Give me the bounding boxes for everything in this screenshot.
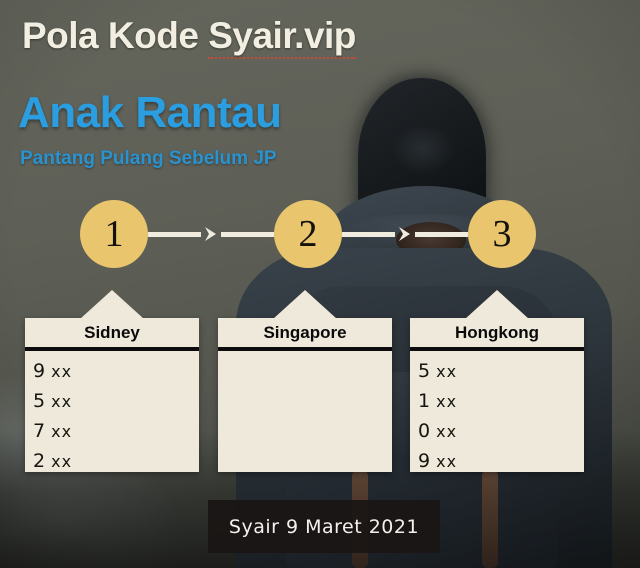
step-connector-2	[342, 231, 468, 237]
prediction-digit: 9	[33, 360, 46, 382]
prediction-row: 0xx	[418, 417, 584, 447]
step-circle-2[interactable]: 2	[274, 200, 342, 268]
step-circle-1[interactable]: 1	[80, 200, 148, 268]
chevron-right-icon	[203, 225, 219, 243]
caption-bar: Syair 9 Maret 2021	[208, 500, 440, 553]
poster-canvas: Pola Kode Syair.vip Anak Rantau Pantang …	[0, 0, 640, 568]
chevron-right-icon	[397, 225, 413, 243]
prediction-row: 9xx	[33, 357, 199, 387]
card-pointer-icon	[80, 290, 144, 319]
prediction-mask: xx	[436, 452, 457, 471]
prediction-digit: 1	[418, 390, 431, 412]
prediction-row: 9xx	[418, 447, 584, 477]
card-body	[218, 351, 392, 357]
prediction-digit: 9	[418, 450, 431, 472]
prediction-mask: xx	[51, 362, 72, 381]
card-title: Hongkong	[410, 318, 584, 351]
prediction-row: 1xx	[418, 387, 584, 417]
prediction-mask: xx	[51, 452, 72, 471]
prediction-digit: 5	[33, 390, 46, 412]
prediction-digit: 5	[418, 360, 431, 382]
card-title: Singapore	[218, 318, 392, 351]
prediction-mask: xx	[51, 392, 72, 411]
market-card-sidney[interactable]: Sidney 9xx 5xx 7xx 2xx	[25, 318, 199, 472]
card-body: 5xx 1xx 0xx 9xx	[410, 351, 584, 477]
prediction-mask: xx	[436, 422, 457, 441]
prediction-row: 7xx	[33, 417, 199, 447]
step-circle-3[interactable]: 3	[468, 200, 536, 268]
card-body: 9xx 5xx 7xx 2xx	[25, 351, 199, 477]
prediction-digit: 0	[418, 420, 431, 442]
card-pointer-icon	[465, 290, 529, 319]
market-card-singapore[interactable]: Singapore	[218, 318, 392, 472]
step-flow: 1 2 3	[0, 0, 640, 568]
connector-line-right	[415, 232, 468, 237]
connector-line-left	[148, 232, 201, 237]
caption-text: Syair 9 Maret 2021	[229, 516, 419, 538]
prediction-digit: 7	[33, 420, 46, 442]
prediction-mask: xx	[436, 392, 457, 411]
prediction-mask: xx	[436, 362, 457, 381]
prediction-row: 2xx	[33, 447, 199, 477]
market-card-hongkong[interactable]: Hongkong 5xx 1xx 0xx 9xx	[410, 318, 584, 472]
prediction-row: 5xx	[33, 387, 199, 417]
connector-line-left	[342, 232, 395, 237]
card-title: Sidney	[25, 318, 199, 351]
prediction-mask: xx	[51, 422, 72, 441]
prediction-row: 5xx	[418, 357, 584, 387]
prediction-digit: 2	[33, 450, 46, 472]
card-pointer-icon	[273, 290, 337, 319]
connector-line-right	[221, 232, 274, 237]
step-connector-1	[148, 231, 274, 237]
